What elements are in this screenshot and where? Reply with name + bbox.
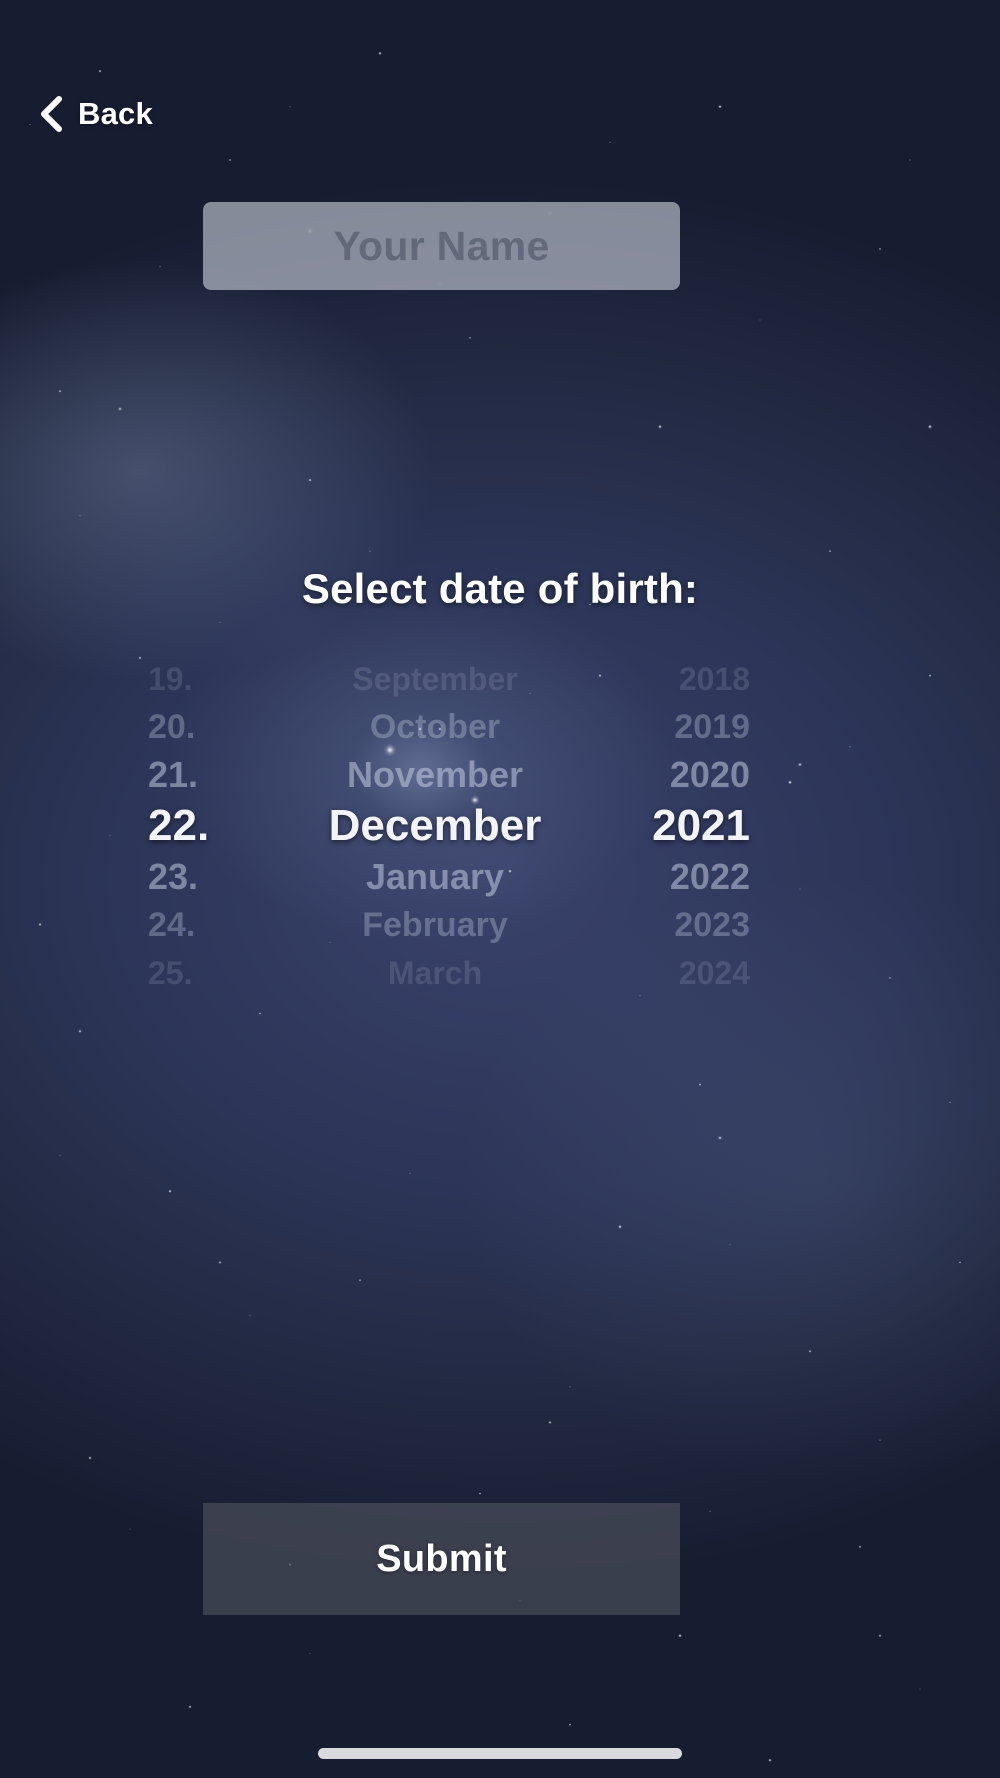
name-input[interactable]: Your Name — [203, 202, 680, 290]
date-picker-day-option[interactable]: 25. — [148, 949, 192, 997]
date-picker-month-option[interactable]: November — [347, 751, 523, 799]
date-picker-month-option[interactable]: October — [370, 703, 500, 751]
date-picker-year-option[interactable]: 2021 — [652, 799, 750, 853]
date-picker-year-option[interactable]: 2023 — [674, 901, 750, 949]
date-picker-year-option[interactable]: 2018 — [679, 655, 750, 703]
date-picker-day-option[interactable]: 21. — [148, 751, 198, 799]
date-picker-month-option[interactable]: September — [352, 655, 517, 703]
date-picker-day-option[interactable]: 23. — [148, 853, 198, 901]
date-picker-month-option[interactable]: January — [366, 853, 504, 901]
date-picker-day-option[interactable]: 20. — [148, 703, 195, 751]
date-picker-day-column[interactable]: 19.20.21.22.23.24.25. — [120, 655, 300, 955]
date-picker-month-option[interactable]: February — [362, 901, 508, 949]
back-button-label: Back — [78, 96, 153, 132]
date-of-birth-heading: Select date of birth: — [0, 565, 1000, 613]
date-picker-month-column[interactable]: SeptemberOctoberNovemberDecemberJanuaryF… — [300, 655, 570, 955]
date-picker-year-column[interactable]: 2018201920202021202220232024 — [570, 655, 760, 955]
home-indicator — [318, 1748, 682, 1759]
date-picker-day-option[interactable]: 24. — [148, 901, 195, 949]
date-picker-year-option[interactable]: 2022 — [670, 853, 750, 901]
date-picker-year-option[interactable]: 2019 — [674, 703, 750, 751]
name-input-placeholder: Your Name — [333, 223, 549, 270]
chevron-left-icon — [36, 96, 64, 132]
date-picker-year-option[interactable]: 2024 — [679, 949, 750, 997]
date-picker-day-option[interactable]: 22. — [148, 799, 209, 853]
date-picker-day-option[interactable]: 19. — [148, 655, 192, 703]
date-picker-month-option[interactable]: March — [388, 949, 482, 997]
submit-button-label: Submit — [376, 1538, 507, 1581]
date-picker-month-option[interactable]: December — [329, 799, 542, 853]
submit-button[interactable]: Submit — [203, 1503, 680, 1615]
back-button[interactable]: Back — [26, 90, 163, 138]
date-picker-year-option[interactable]: 2020 — [670, 751, 750, 799]
app-screen: Back Your Name Select date of birth: 19.… — [0, 0, 1000, 1778]
date-picker[interactable]: 19.20.21.22.23.24.25. SeptemberOctoberNo… — [120, 655, 760, 955]
